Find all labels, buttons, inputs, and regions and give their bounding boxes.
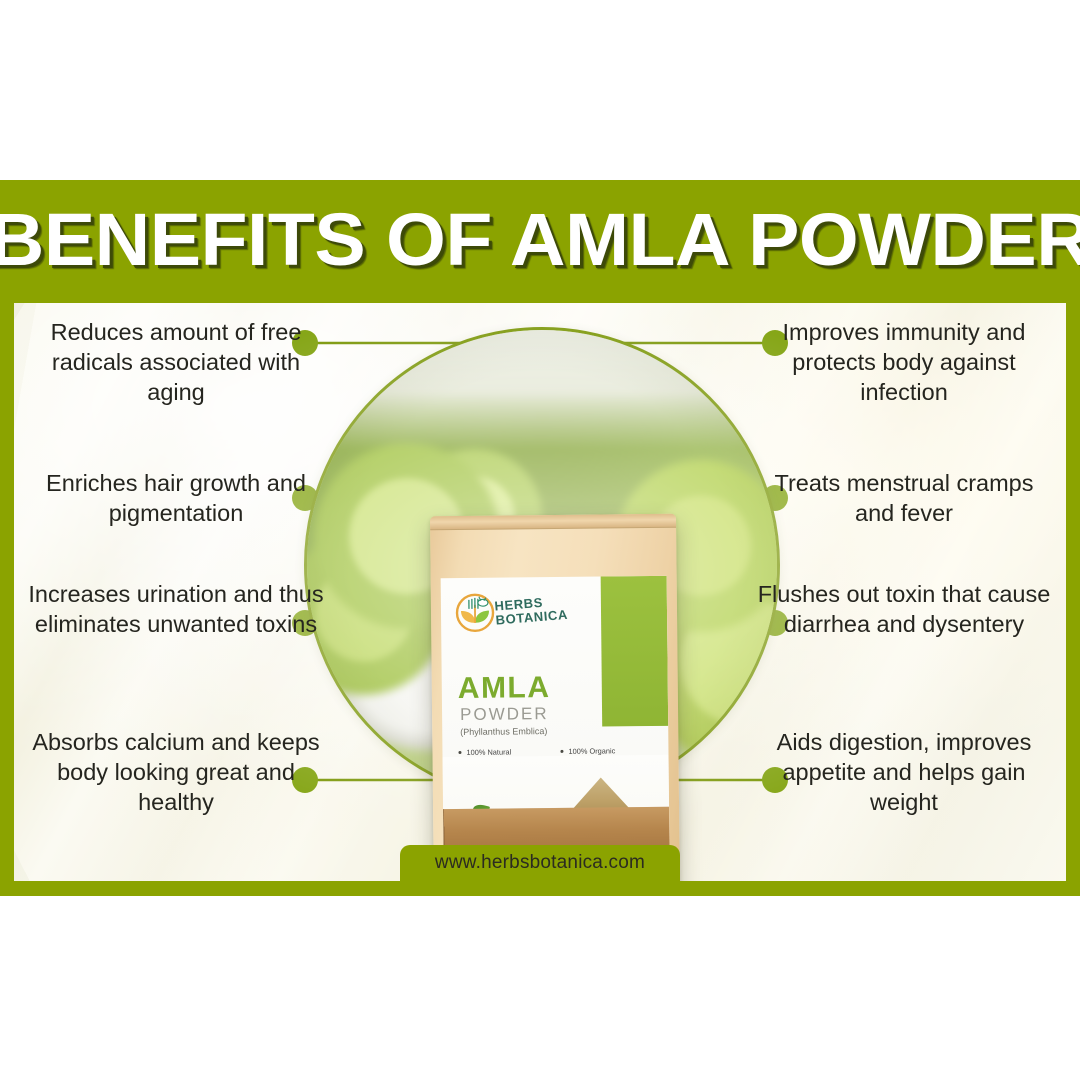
benefit-calcium: Absorbs calcium and keeps body looking g… — [26, 727, 326, 817]
pouch-zip-seal — [430, 514, 676, 531]
benefit-digestion: Aids digestion, improves appetite and he… — [754, 727, 1054, 817]
pouch-body: HERBS BOTANICA AMLA POWDER (Phyllanthus … — [430, 514, 680, 881]
benefit-menstrual: Treats menstrual cramps and fever — [754, 468, 1054, 528]
product-name: AMLA — [458, 673, 551, 704]
website-url-tab[interactable]: www.herbsbotanica.com — [400, 845, 680, 881]
label-accent-panel — [601, 576, 669, 727]
website-url: www.herbsbotanica.com — [435, 852, 645, 874]
product-label: HERBS BOTANICA AMLA POWDER (Phyllanthus … — [441, 576, 670, 881]
header-band: BENEFITS OF AMLA POWDER — [0, 180, 1080, 303]
infographic-poster: BENEFITS OF AMLA POWDER — [0, 180, 1080, 896]
brand-name: HERBS BOTANICA — [494, 593, 582, 628]
benefit-hair-growth: Enriches hair growth and pigmentation — [26, 468, 326, 528]
product-subtitle: POWDER — [460, 705, 549, 723]
benefit-free-radicals: Reduces amount of free radicals associat… — [26, 317, 326, 407]
product-latin-name: (Phyllanthus Emblica) — [460, 727, 547, 737]
benefit-immunity: Improves immunity and protects body agai… — [754, 317, 1054, 407]
benefit-urination: Increases urination and thus eliminates … — [26, 579, 326, 639]
body-panel: HERBS BOTANICA AMLA POWDER (Phyllanthus … — [14, 303, 1066, 881]
leaf-circle-icon — [455, 593, 495, 633]
brand-logo: HERBS BOTANICA — [455, 591, 579, 634]
screenshot-canvas: BENEFITS OF AMLA POWDER — [0, 0, 1080, 1080]
product-pouch: HERBS BOTANICA AMLA POWDER (Phyllanthus … — [432, 515, 678, 881]
benefit-toxin: Flushes out toxin that cause diarrhea an… — [754, 579, 1054, 639]
page-title: BENEFITS OF AMLA POWDER — [0, 203, 1080, 281]
